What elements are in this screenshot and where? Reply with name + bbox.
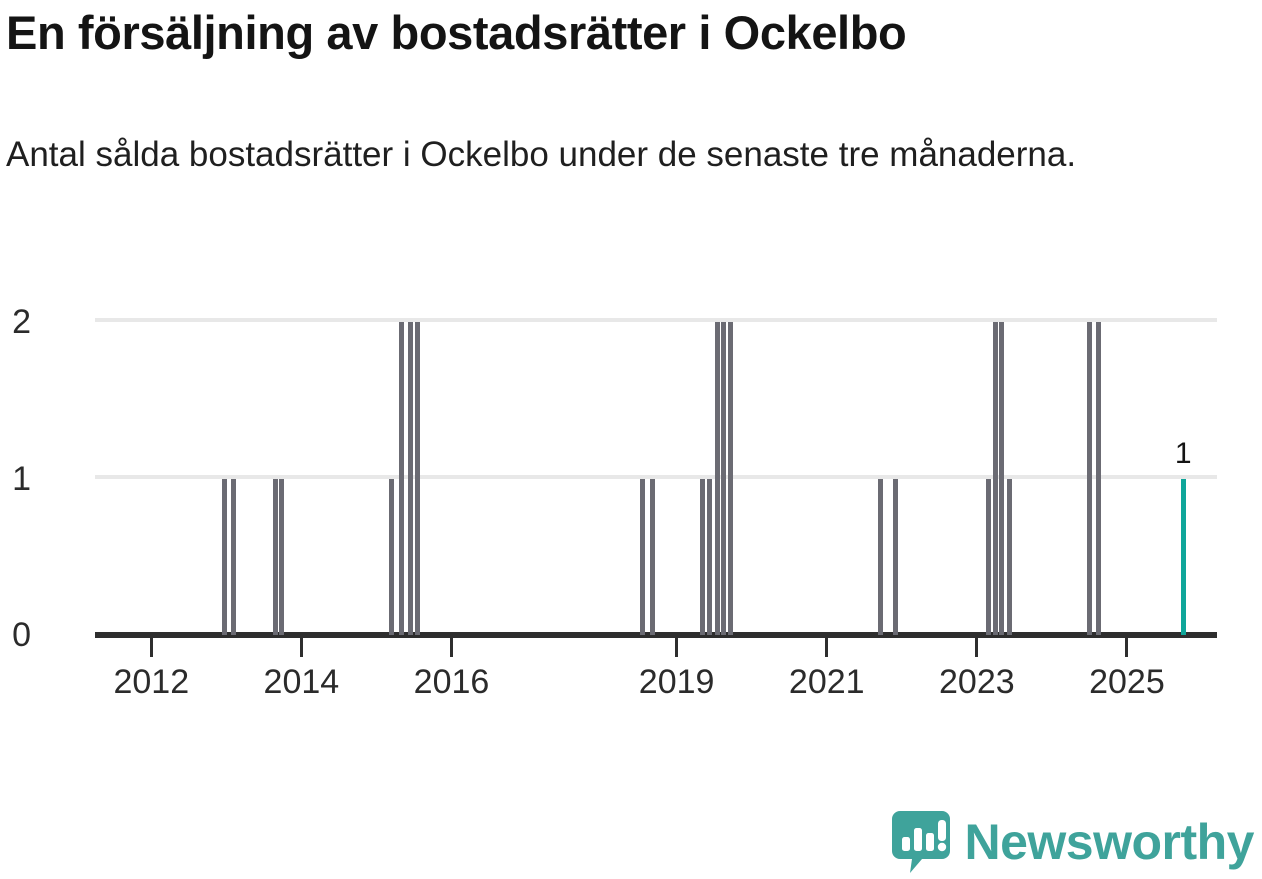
bar[interactable]: [993, 322, 998, 635]
x-axis-tick-label: 2016: [414, 662, 490, 702]
chart-page: En försäljning av bostadsrätter i Ockelb…: [0, 0, 1262, 879]
bar[interactable]: [1007, 479, 1012, 636]
bar[interactable]: [715, 322, 720, 635]
bar-value-label: 1: [1153, 439, 1213, 469]
bar[interactable]: [273, 479, 278, 636]
plot-area: 0121: [95, 322, 1217, 635]
x-axis-tick-label: 2025: [1089, 662, 1165, 702]
bar[interactable]: [878, 479, 883, 636]
bar[interactable]: [222, 479, 227, 636]
bar-highlight[interactable]: [1181, 479, 1186, 636]
newsworthy-logo: Newsworthy: [892, 811, 1254, 873]
bar[interactable]: [986, 479, 991, 636]
bar[interactable]: [707, 479, 712, 636]
y-axis-tick-label: 1: [0, 462, 31, 496]
x-axis: 2012201420162019202120232025: [0, 638, 1262, 708]
x-axis-tick: [300, 638, 303, 657]
x-axis-tick-label: 2012: [113, 662, 189, 702]
speech-bubble-bar-chart-icon: [892, 811, 950, 873]
bar[interactable]: [399, 322, 404, 635]
gridline: [95, 475, 1217, 479]
bar[interactable]: [1087, 322, 1092, 635]
page-subtitle: Antal sålda bostadsrätter i Ockelbo unde…: [6, 128, 1236, 182]
x-axis-tick: [675, 638, 678, 657]
x-axis-tick: [1125, 638, 1128, 657]
bar[interactable]: [700, 479, 705, 636]
x-axis-tick: [825, 638, 828, 657]
bar[interactable]: [1096, 322, 1101, 635]
bar[interactable]: [893, 479, 898, 636]
logo-wordmark: Newsworthy: [964, 817, 1254, 867]
bar[interactable]: [640, 479, 645, 636]
gridline: [95, 318, 1217, 322]
bar[interactable]: [389, 479, 394, 636]
page-title: En försäljning av bostadsrätter i Ockelb…: [6, 4, 1246, 62]
bar-chart: 0121 2012201420162019202120232025: [0, 290, 1262, 710]
bar[interactable]: [728, 322, 733, 635]
x-axis-tick-label: 2014: [264, 662, 340, 702]
x-axis-tick: [975, 638, 978, 657]
bar[interactable]: [721, 322, 726, 635]
bar[interactable]: [415, 322, 420, 635]
bar[interactable]: [408, 322, 413, 635]
y-axis-tick-label: 2: [0, 305, 31, 339]
x-axis-tick-label: 2021: [789, 662, 865, 702]
bar[interactable]: [231, 479, 236, 636]
bar[interactable]: [279, 479, 284, 636]
bar[interactable]: [999, 322, 1004, 635]
x-axis-tick-label: 2019: [639, 662, 715, 702]
bar[interactable]: [650, 479, 655, 636]
x-axis-tick-label: 2023: [939, 662, 1015, 702]
x-axis-tick: [150, 638, 153, 657]
x-axis-tick: [450, 638, 453, 657]
